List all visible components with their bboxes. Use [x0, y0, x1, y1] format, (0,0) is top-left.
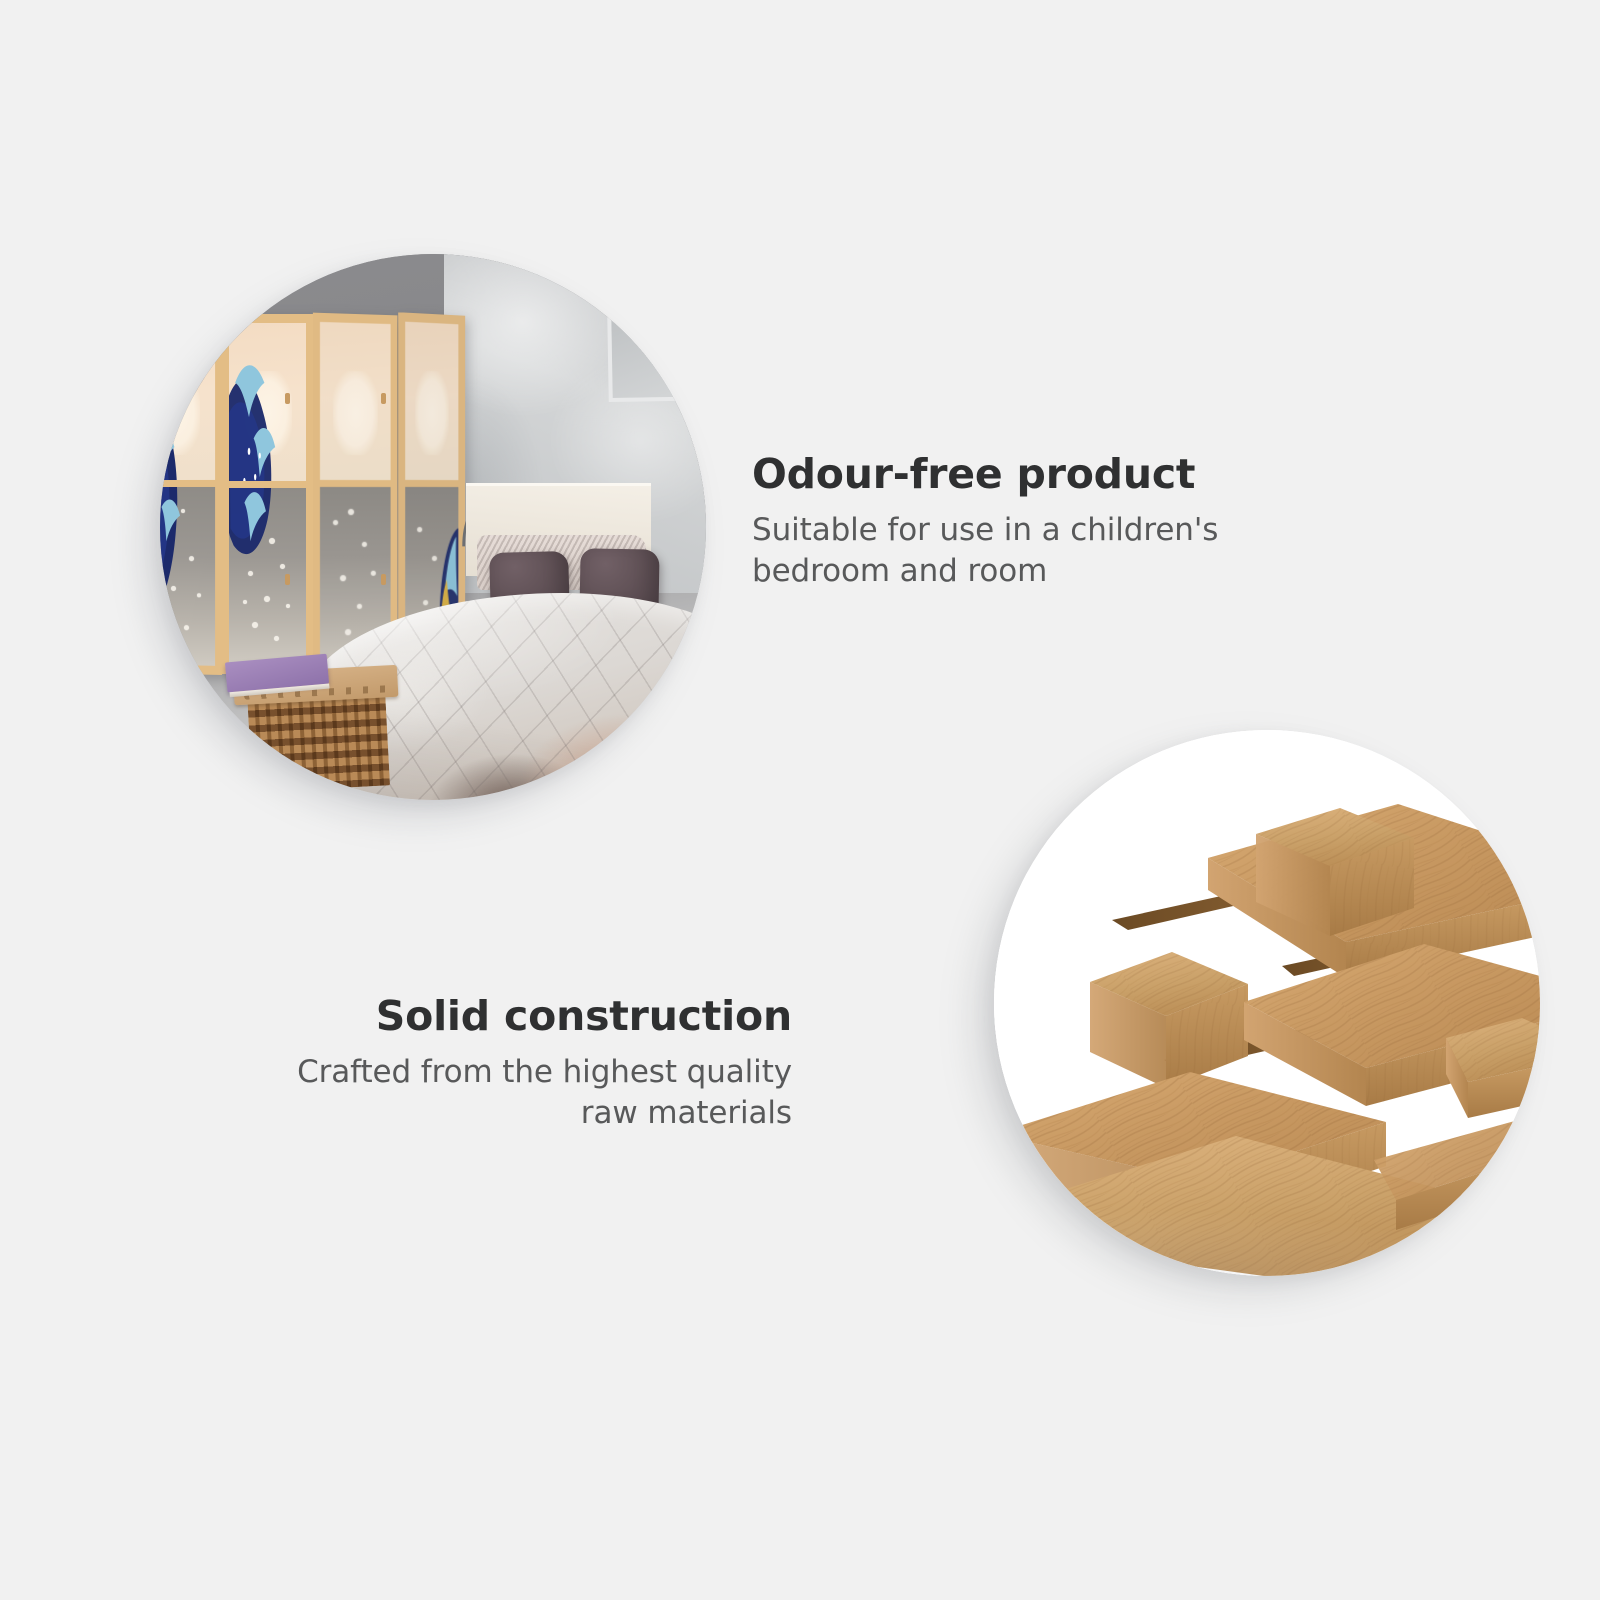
screen-hinge — [285, 574, 290, 585]
feature-text-odour-free: Odour-free product Suitable for use in a… — [752, 452, 1282, 591]
screen-hinge — [381, 574, 386, 585]
screen-hinge — [381, 393, 386, 404]
feature-graphic-canvas: Odour-free product Suitable for use in a… — [0, 0, 1600, 1600]
bedroom-photo-circle — [160, 254, 706, 800]
wood-planks-photo-icon — [994, 730, 1540, 1276]
artwork-sky — [320, 322, 390, 484]
wooden-bench — [233, 665, 403, 794]
screen-panel — [222, 314, 313, 674]
great-wave-artwork — [160, 322, 215, 666]
wood-planks-illustration — [994, 730, 1540, 1276]
screen-hinge — [285, 393, 290, 404]
bench-lattice — [248, 694, 390, 792]
panel-artwork — [160, 322, 215, 666]
feature-description: Crafted from the highest quality raw mat… — [262, 1052, 792, 1133]
bedroom-photo-icon — [160, 254, 706, 800]
screen-panel — [160, 313, 222, 675]
great-wave-artwork — [229, 323, 306, 665]
feature-text-solid-construction: Solid construction Crafted from the high… — [262, 994, 792, 1133]
screen-panel — [313, 313, 397, 676]
panel-artwork — [320, 322, 390, 666]
wall-picture-frame — [607, 313, 706, 402]
panel-artwork — [229, 323, 306, 665]
feature-title: Odour-free product — [752, 452, 1282, 496]
feature-title: Solid construction — [262, 994, 792, 1038]
feature-description: Suitable for use in a children's bedroom… — [752, 510, 1282, 591]
wood-photo-circle — [994, 730, 1540, 1276]
